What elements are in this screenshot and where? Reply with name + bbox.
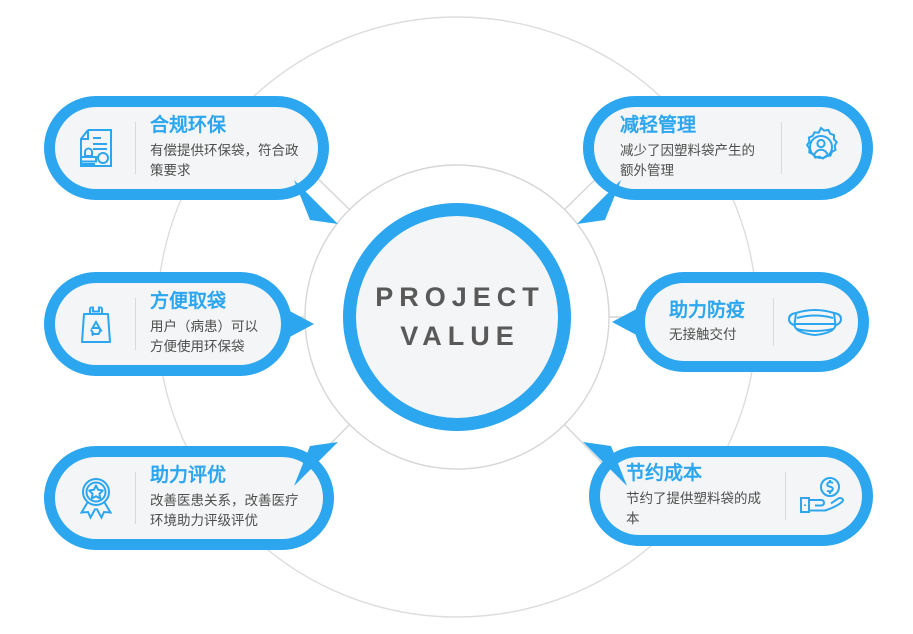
card-epidemic-tail [608, 304, 642, 340]
card-compliance-body: 合规环保 有偿提供环保袋，符合政策要求 [55, 107, 318, 189]
card-cost-text: 节约成本 节约了提供塑料袋的成本 [610, 462, 777, 529]
gear-person-icon [790, 126, 852, 170]
card-management[interactable]: 减轻管理 减少了因塑料袋产生的额外管理 [583, 96, 873, 200]
card-compliance-divider [135, 122, 136, 174]
card-rating-body: 助力评优 改善医患关系，改善医疗环境助力评级评优 [55, 457, 323, 539]
card-epidemic-title: 助力防疫 [669, 299, 759, 323]
card-rating-text: 助力评优 改善医患关系，改善医疗环境助力评级评优 [144, 464, 313, 531]
card-management-divider [781, 122, 782, 174]
award-medal-icon [65, 476, 127, 520]
card-rating-desc: 改善医患关系，改善医疗环境助力评级评优 [150, 491, 307, 532]
card-management-desc: 减少了因塑料袋产生的额外管理 [620, 141, 767, 182]
card-cost-divider [785, 472, 786, 520]
card-cost-body: 节约成本 节约了提供塑料袋的成本 [600, 457, 862, 535]
card-management-body: 减轻管理 减少了因塑料袋产生的额外管理 [594, 107, 862, 189]
card-epidemic-text: 助力防疫 无接触交付 [655, 299, 765, 346]
card-bag-desc: 用户（病患）可以方便使用环保袋 [150, 317, 265, 358]
card-epidemic-divider [773, 298, 774, 346]
card-compliance-tail [292, 180, 342, 232]
card-compliance-text: 合规环保 有偿提供环保袋，符合政策要求 [144, 114, 308, 181]
stamped-document-icon [65, 127, 127, 169]
card-epidemic-desc: 无接触交付 [669, 325, 759, 345]
card-bag-divider [135, 298, 136, 350]
card-management-title: 减轻管理 [620, 114, 767, 138]
card-management-text: 减轻管理 减少了因塑料袋产生的额外管理 [604, 114, 773, 181]
hand-money-icon [794, 476, 852, 516]
card-bag-title: 方便取袋 [150, 290, 265, 314]
card-rating-title: 助力评优 [150, 464, 307, 488]
card-epidemic[interactable]: 助力防疫 无接触交付 [634, 272, 869, 372]
diagram-canvas: PROJECT VALUE [0, 0, 913, 634]
card-cost-tail [581, 436, 631, 488]
card-cost-title: 节约成本 [626, 462, 771, 486]
card-compliance-desc: 有偿提供环保袋，符合政策要求 [150, 141, 302, 182]
card-rating-divider [135, 472, 136, 524]
card-cost[interactable]: 节约成本 节约了提供塑料袋的成本 [589, 446, 873, 546]
card-bag-text: 方便取袋 用户（病患）可以方便使用环保袋 [144, 290, 271, 357]
face-mask-icon [782, 302, 848, 342]
center-title-line-2: VALUE [394, 317, 520, 356]
card-management-tail [575, 180, 625, 232]
card-epidemic-body: 助力防疫 无接触交付 [645, 283, 858, 361]
recycle-bag-icon [65, 303, 127, 345]
card-bag-tail [284, 306, 318, 342]
center-hub: PROJECT VALUE [343, 203, 571, 431]
card-cost-desc: 节约了提供塑料袋的成本 [626, 489, 771, 530]
card-bag-body: 方便取袋 用户（病患）可以方便使用环保袋 [55, 283, 281, 365]
card-rating-tail [292, 436, 342, 488]
card-compliance[interactable]: 合规环保 有偿提供环保袋，符合政策要求 [44, 96, 329, 200]
card-bag[interactable]: 方便取袋 用户（病患）可以方便使用环保袋 [44, 272, 292, 376]
card-rating[interactable]: 助力评优 改善医患关系，改善医疗环境助力评级评优 [44, 446, 334, 550]
center-title-line-1: PROJECT [369, 278, 545, 317]
card-compliance-title: 合规环保 [150, 114, 302, 138]
